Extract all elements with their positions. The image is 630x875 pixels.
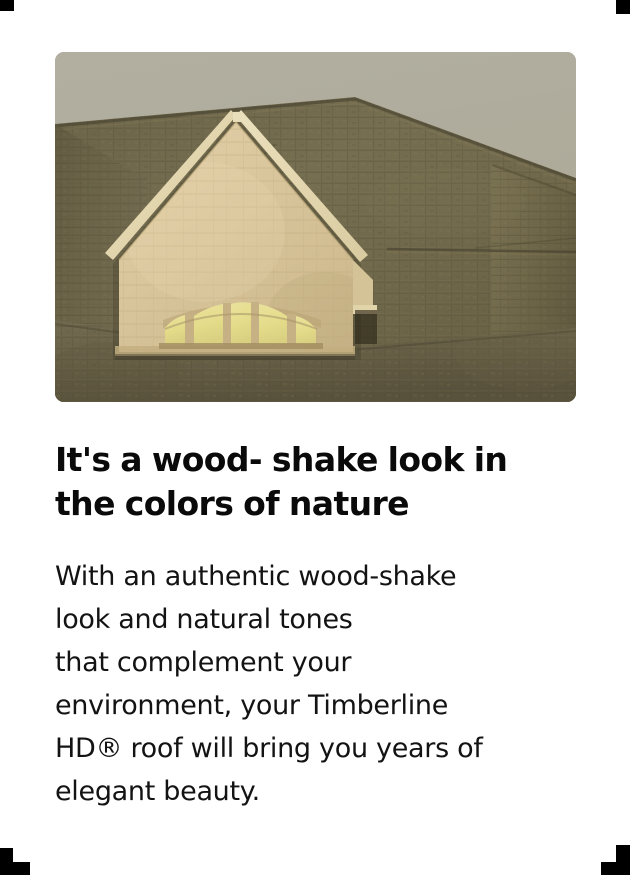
roof-photograph	[55, 52, 576, 402]
body-paragraph: With an authentic wood-shake look and na…	[55, 555, 585, 813]
card-page: It's a wood- shake look in the colors of…	[0, 0, 630, 875]
page-title: It's a wood- shake look in the colors of…	[55, 438, 575, 525]
crop-mark-bottom-left-horizontal	[0, 862, 30, 875]
crop-mark-top-right	[616, 0, 630, 14]
crop-mark-bottom-right-horizontal	[601, 862, 630, 875]
hero-image	[55, 52, 576, 402]
crop-mark-top-left	[0, 0, 14, 11]
